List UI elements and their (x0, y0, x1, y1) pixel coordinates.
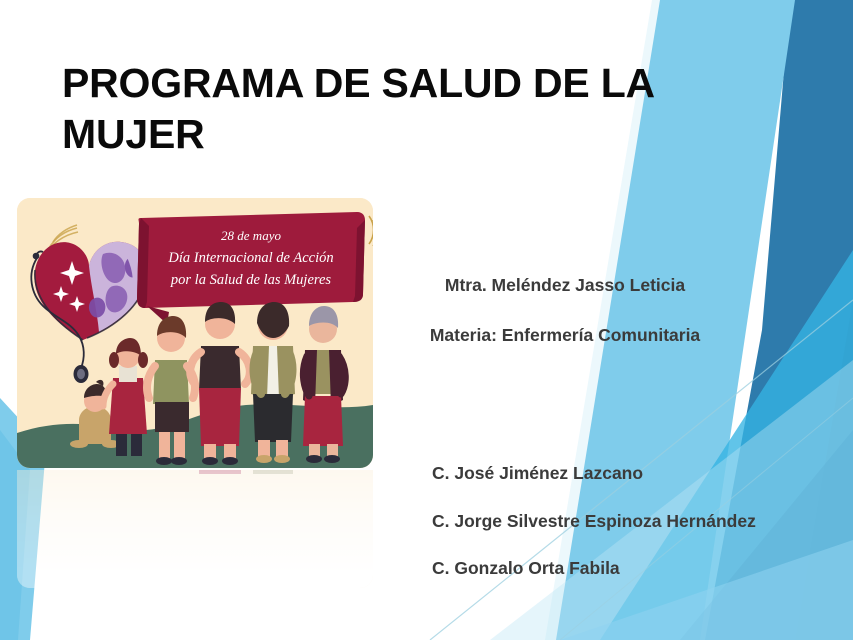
banner-line-3: por la Salud de las Mujeres (170, 272, 332, 288)
instructor-name: Mtra. Meléndez Jasso Leticia (390, 274, 740, 298)
student-name-1: C. José Jiménez Lazcano (432, 462, 832, 486)
subject-name: Materia: Enfermería Comunitaria (390, 324, 740, 348)
illustration-image: 28 de mayo Día Internacional de Acción p… (17, 198, 373, 468)
student-name-2: C. Jorge Silvestre Espinoza Hernández (432, 510, 832, 534)
reflection-fade-mask (17, 470, 373, 588)
illustration-reflection (17, 470, 373, 588)
banner-line-2: Día Internacional de Acción (167, 250, 333, 266)
student-list: C. José Jiménez Lazcano C. Jorge Silvest… (432, 462, 832, 581)
student-name-3: C. Gonzalo Orta Fabila (432, 557, 832, 581)
instructor-info: Mtra. Meléndez Jasso Leticia Materia: En… (390, 274, 740, 347)
slide-title: PROGRAMA DE SALUD DE LA MUJER (62, 58, 662, 161)
banner-line-1: 28 de mayo (221, 228, 281, 243)
illustration-frame: 28 de mayo Día Internacional de Acción p… (17, 198, 373, 468)
presentation-title-slide: PROGRAMA DE SALUD DE LA MUJER (0, 0, 853, 640)
